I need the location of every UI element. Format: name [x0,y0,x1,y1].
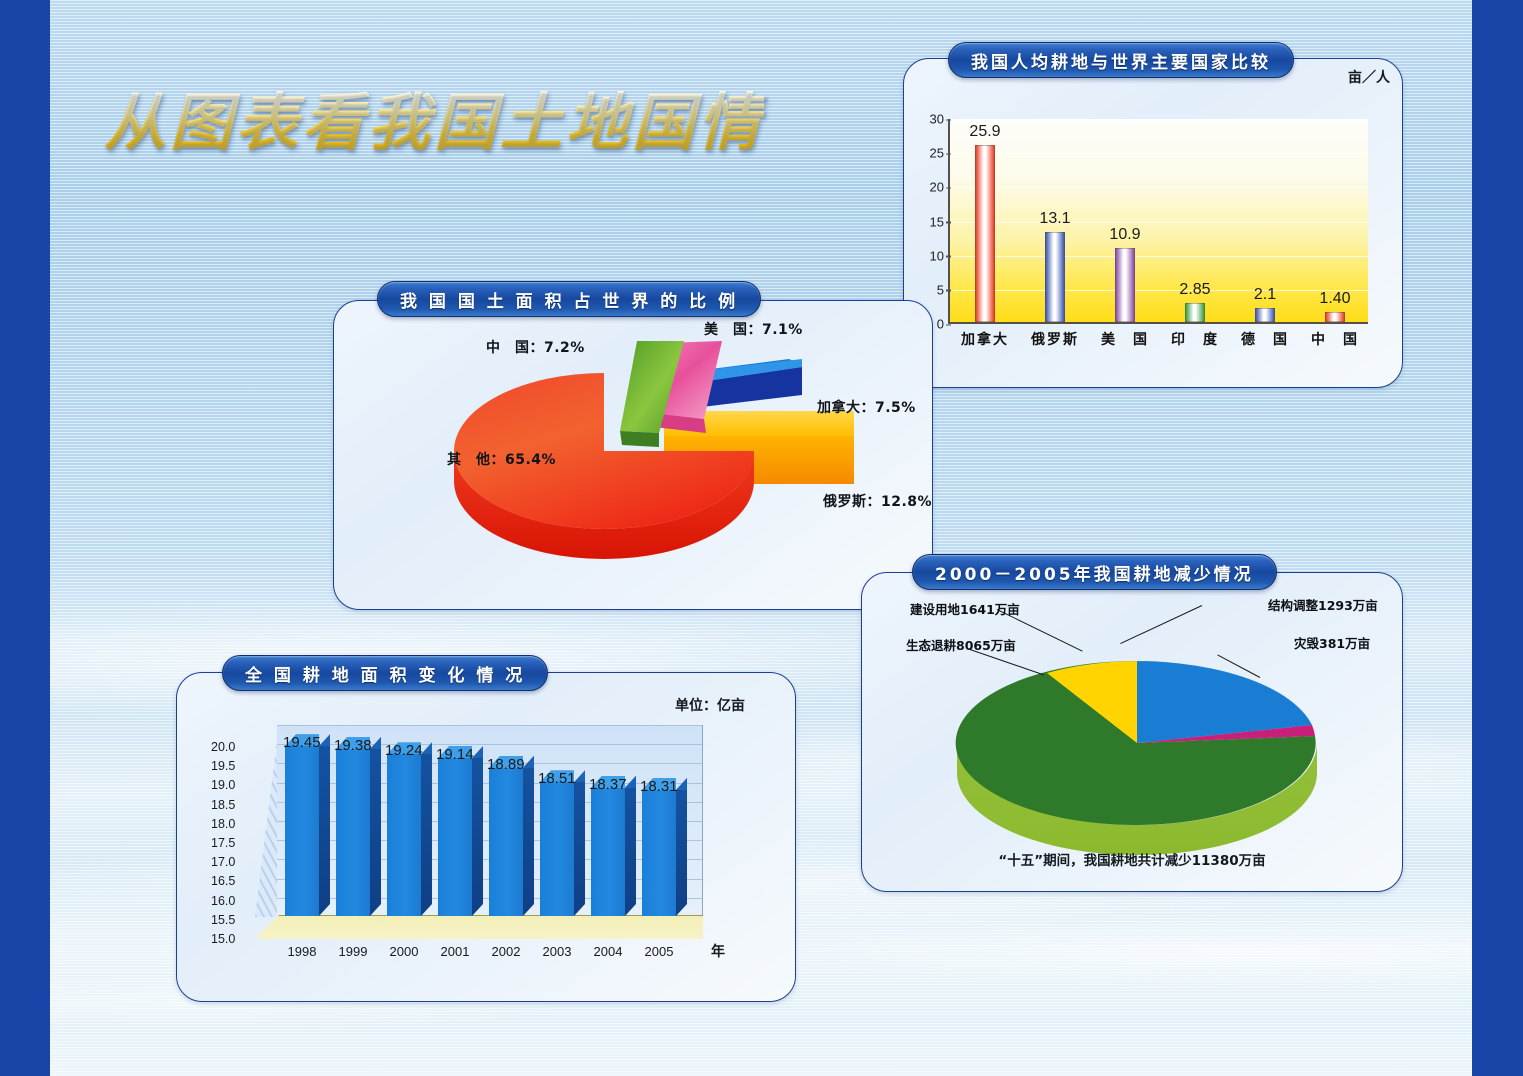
page-title: 从图表看我国土地国情 [104,72,764,162]
column-bar [285,745,319,916]
y-axis-tick: 20 [930,180,944,195]
pie-label-structural: 结构调整1293万亩 [1268,595,1378,614]
pie-label-construction: 建设用地1641万亩 [910,599,1020,618]
x-axis-year: 2002 [486,944,526,959]
pie-chart-world-share: 其 他：65.4% 中 国：7.2% 美 国：7.1% 加拿大：7.5% 俄罗斯… [334,301,932,609]
x-axis-category: 中 国 [1305,329,1365,349]
pie-label-eco-retire: 生态退耕8065万亩 [906,635,1016,654]
poster-root: 从图表看我国土地国情 亩／人 05101520253025.9加拿大13.1俄罗… [0,0,1523,1076]
column-side-face [676,790,687,916]
column-bar [336,748,370,916]
bar [975,145,995,322]
column-side-face [625,788,636,916]
pie-b-svg [334,301,934,611]
bar-group: 13.1 [1025,232,1085,322]
panel-world-land-share: 其 他：65.4% 中 国：7.2% 美 国：7.1% 加拿大：7.5% 俄罗斯… [333,300,933,610]
column-bar [489,767,523,916]
column-bar [387,753,421,916]
panel-title-world-share: 我 国 国 土 面 积 占 世 界 的 比 例 [377,281,761,317]
pie-label-other: 其 他：65.4% [447,449,556,469]
column-bar [438,757,472,916]
panel-title-arable-loss: 2000－2005年我国耕地减少情况 [912,554,1277,590]
x-axis-year: 2004 [588,944,628,959]
gridline [277,725,702,726]
bar-value-label: 25.9 [969,123,1000,141]
x-axis-label-c: 年 [711,941,725,961]
unit-label-c: 单位：亿亩 [675,695,745,715]
chart-floor [255,915,703,939]
y-axis-tick: 30 [930,112,944,127]
y-axis-tick: 16.0 [211,894,235,908]
column-value-label: 19.14 [436,746,474,763]
bar-group: 2.1 [1235,308,1295,322]
x-axis-year: 2000 [384,944,424,959]
column-bar [642,789,676,916]
y-axis-tick: 15.0 [211,932,235,946]
x-axis-year: 1999 [333,944,373,959]
panel-arable-area-trend: 单位：亿亩 年 15.015.516.016.517.017.518.018.5… [176,672,796,1002]
chart-sidewall [255,725,279,917]
column-value-label: 18.51 [538,770,576,787]
bar-value-label: 2.1 [1254,286,1276,304]
y-axis-tick: 5 [937,282,944,297]
bar [1255,308,1275,322]
bar-value-label: 2.85 [1179,281,1210,299]
pie-label-china: 中 国：7.2% [486,337,585,357]
bar-value-label: 1.40 [1319,290,1350,308]
column-value-label: 19.24 [385,742,423,759]
column-value-label: 19.38 [334,737,372,754]
x-axis-year: 2003 [537,944,577,959]
panel-title-per-capita: 我国人均耕地与世界主要国家比较 [948,42,1294,78]
bar [1325,312,1345,322]
panel-title-arable-trend: 全 国 耕 地 面 积 变 化 情 况 [222,655,548,691]
column-value-label: 19.45 [283,734,321,751]
x-axis-category: 加拿大 [955,329,1015,349]
column-side-face [574,782,585,916]
x-axis-category: 印 度 [1165,329,1225,349]
y-axis-tick: 20.0 [211,740,235,754]
x-axis-year: 2005 [639,944,679,959]
bar-group: 1.40 [1305,312,1365,322]
column-value-label: 18.89 [487,756,525,773]
x-axis-category: 俄罗斯 [1025,329,1085,349]
x-axis-category: 美 国 [1095,329,1155,349]
column-side-face [421,754,432,916]
x-axis-category: 德 国 [1235,329,1295,349]
bar-group: 2.85 [1165,303,1225,322]
column-chart-arable-trend: 年 15.015.516.016.517.017.518.018.519.019… [255,725,703,939]
bar-chart-per-capita: 05101520253025.9加拿大13.1俄罗斯10.9美 国2.85印 度… [948,119,1368,324]
bar-group: 10.9 [1095,248,1155,322]
y-axis-tick: 18.0 [211,817,235,831]
pie-label-disaster: 灾毁381万亩 [1294,633,1370,652]
bar [1185,303,1205,322]
y-axis-tick: 16.5 [211,874,235,888]
pie-chart-arable-loss [862,573,1404,893]
y-axis-tick: 25 [930,146,944,161]
panel-arable-loss: 生态退耕8065万亩 建设用地1641万亩 结构调整1293万亩 灾毁381万亩… [861,572,1403,892]
column-side-face [319,746,330,916]
bar [1045,232,1065,322]
bar [1115,248,1135,322]
pie-label-canada: 加拿大：7.5% [817,397,916,417]
chart-caption-d: “十五”期间，我国耕地共计减少11380万亩 [862,849,1402,869]
y-axis-tick: 19.0 [211,778,235,792]
column-side-face [472,758,483,916]
x-axis-year: 1998 [282,944,322,959]
y-axis-tick: 0 [937,317,944,332]
pie-label-russia: 俄罗斯：12.8% [823,491,932,511]
column-value-label: 18.31 [640,778,678,795]
column-side-face [370,749,381,916]
pie-label-us: 美 国：7.1% [704,319,803,339]
panel-per-capita-comparison: 亩／人 05101520253025.9加拿大13.1俄罗斯10.9美 国2.8… [903,58,1403,388]
bar-value-label: 13.1 [1039,210,1070,228]
column-bar [540,781,574,916]
y-axis-tick: 15 [930,214,944,229]
y-axis-tick: 10 [930,248,944,263]
y-axis-tick: 19.5 [211,759,235,773]
gridline [950,119,1368,120]
y-axis-tick: 18.5 [211,798,235,812]
y-axis-tick: 15.5 [211,913,235,927]
y-axis-tick: 17.5 [211,836,235,850]
unit-label-a: 亩／人 [1348,67,1390,87]
column-side-face [523,768,534,916]
column-bar [591,787,625,916]
x-axis-year: 2001 [435,944,475,959]
bar-value-label: 10.9 [1109,226,1140,244]
column-value-label: 18.37 [589,776,627,793]
y-axis-tick: 17.0 [211,855,235,869]
bar-group: 25.9 [955,145,1015,322]
